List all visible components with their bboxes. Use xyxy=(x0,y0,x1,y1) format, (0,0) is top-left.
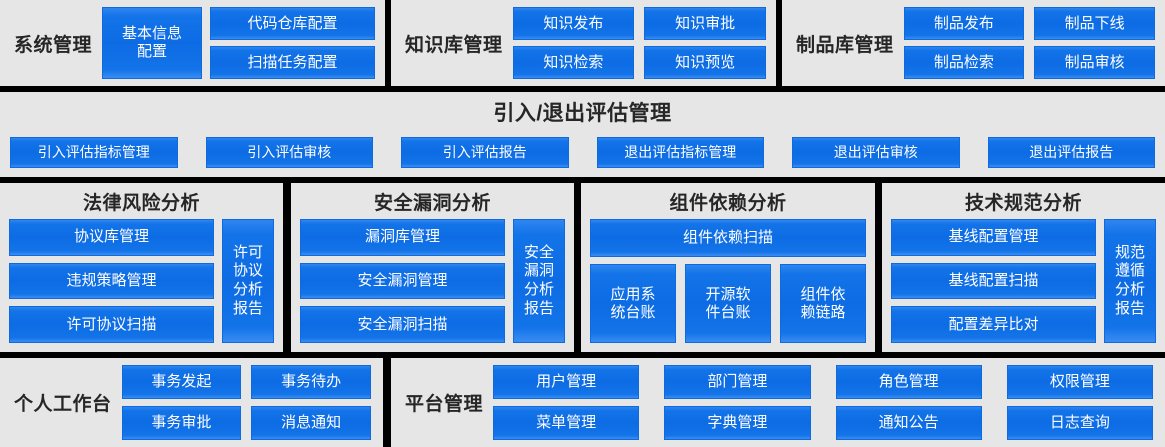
button-exit-eval-report[interactable]: 退出评估报告 xyxy=(988,137,1156,168)
entry-exit-evaluation-buttons: 引入评估指标管理 引入评估审核 引入评估报告 退出评估指标管理 退出评估审核 退… xyxy=(0,137,1165,168)
button-product-audit[interactable]: 制品审核 xyxy=(1034,46,1155,79)
button-component-dependency-chain[interactable]: 组件依 赖链路 xyxy=(780,264,866,343)
panel-title-tech-spec: 技术规范分析 xyxy=(882,183,1165,219)
button-entry-eval-indicator-mgmt[interactable]: 引入评估指标管理 xyxy=(10,137,178,168)
button-basic-info-config[interactable]: 基本信息 配置 xyxy=(102,7,202,79)
panel-knowledge-base-management: 知识库管理 知识发布 知识审批 知识检索 知识预览 xyxy=(391,0,776,86)
button-security-vuln-report[interactable]: 安全 漏洞 分析 报告 xyxy=(513,219,565,343)
button-message-notification[interactable]: 消息通知 xyxy=(251,406,371,440)
button-knowledge-preview[interactable]: 知识预览 xyxy=(644,46,766,79)
button-code-repo-config[interactable]: 代码仓库配置 xyxy=(210,7,375,40)
personal-workbench-buttons: 事务发起 事务待办 事务审批 消息通知 xyxy=(122,365,383,440)
button-spec-compliance-report[interactable]: 规范 遵循 分析 报告 xyxy=(1104,219,1156,343)
panel-title-system-management: 系统管理 xyxy=(0,30,102,57)
button-notice-announcement[interactable]: 通知公告 xyxy=(836,406,982,440)
panel-component-dependency-analysis: 组件依赖分析 组件依赖扫描 应用系 统台账 开源软 件台账 组件依 赖链路 xyxy=(581,183,875,352)
panel-title-platform-management: 平台管理 xyxy=(391,389,493,416)
button-knowledge-approval[interactable]: 知识审批 xyxy=(644,7,766,40)
button-open-source-ledger[interactable]: 开源软 件台账 xyxy=(685,264,771,343)
button-permission-management[interactable]: 权限管理 xyxy=(1007,365,1153,399)
button-license-agreement-scan[interactable]: 许可协议扫描 xyxy=(9,306,214,343)
button-log-query[interactable]: 日志查询 xyxy=(1007,406,1153,440)
panel-system-management: 系统管理 基本信息 配置 代码仓库配置 扫描任务配置 xyxy=(0,0,385,86)
panel-entry-exit-evaluation-management: 引入/退出评估管理 引入评估指标管理 引入评估审核 引入评估报告 退出评估指标管… xyxy=(0,92,1165,177)
system-management-buttons: 基本信息 配置 代码仓库配置 扫描任务配置 xyxy=(102,7,385,79)
button-license-analysis-report[interactable]: 许可 协议 分析 报告 xyxy=(222,219,274,343)
panel-title-personal-workbench: 个人工作台 xyxy=(0,389,122,416)
panel-personal-workbench: 个人工作台 事务发起 事务待办 事务审批 消息通知 xyxy=(0,358,383,447)
panel-tech-spec-analysis: 技术规范分析 基线配置管理 基线配置扫描 配置差异比对 规范 遵循 分析 报告 xyxy=(882,183,1165,352)
button-security-vuln-scan[interactable]: 安全漏洞扫描 xyxy=(300,306,505,343)
button-knowledge-search[interactable]: 知识检索 xyxy=(513,46,635,79)
knowledge-base-buttons: 知识发布 知识审批 知识检索 知识预览 xyxy=(513,7,776,79)
button-violation-policy-mgmt[interactable]: 违规策略管理 xyxy=(9,263,214,300)
button-task-initiate[interactable]: 事务发起 xyxy=(122,365,242,399)
panel-security-vulnerability-analysis: 安全漏洞分析 漏洞库管理 安全漏洞管理 安全漏洞扫描 安全 漏洞 分析 报告 xyxy=(291,183,574,352)
panel-title-knowledge-base: 知识库管理 xyxy=(391,30,513,57)
button-dictionary-management[interactable]: 字典管理 xyxy=(664,406,810,440)
platform-management-buttons: 用户管理 部门管理 角色管理 权限管理 菜单管理 字典管理 通知公告 日志查询 xyxy=(493,365,1165,440)
button-role-management[interactable]: 角色管理 xyxy=(836,365,982,399)
button-baseline-config-mgmt[interactable]: 基线配置管理 xyxy=(891,219,1096,256)
button-knowledge-publish[interactable]: 知识发布 xyxy=(513,7,635,40)
architecture-diagram: 系统管理 基本信息 配置 代码仓库配置 扫描任务配置 知识库管理 知识发布 知识… xyxy=(0,0,1165,447)
button-security-vuln-mgmt[interactable]: 安全漏洞管理 xyxy=(300,263,505,300)
panel-title-legal-risk: 法律风险分析 xyxy=(0,183,283,219)
button-scan-task-config[interactable]: 扫描任务配置 xyxy=(210,46,375,79)
button-task-approval[interactable]: 事务审批 xyxy=(122,406,242,440)
panel-legal-risk-analysis: 法律风险分析 协议库管理 违规策略管理 许可协议扫描 许可 协议 分析 报告 xyxy=(0,183,283,352)
panel-platform-management: 平台管理 用户管理 部门管理 角色管理 权限管理 菜单管理 字典管理 通知公告 … xyxy=(391,358,1165,447)
button-entry-eval-report[interactable]: 引入评估报告 xyxy=(401,137,569,168)
button-entry-eval-audit[interactable]: 引入评估审核 xyxy=(206,137,374,168)
panel-title-product-library: 制品库管理 xyxy=(782,30,904,57)
button-product-search[interactable]: 制品检索 xyxy=(904,46,1025,79)
button-vuln-library-mgmt[interactable]: 漏洞库管理 xyxy=(300,219,505,256)
button-agreement-library-mgmt[interactable]: 协议库管理 xyxy=(9,219,214,256)
button-config-diff-compare[interactable]: 配置差异比对 xyxy=(891,306,1096,343)
button-app-system-ledger[interactable]: 应用系 统台账 xyxy=(590,264,676,343)
panel-title-security-vuln: 安全漏洞分析 xyxy=(291,183,574,219)
product-library-buttons: 制品发布 制品下线 制品检索 制品审核 xyxy=(904,7,1165,79)
button-exit-eval-audit[interactable]: 退出评估审核 xyxy=(792,137,960,168)
button-baseline-config-scan[interactable]: 基线配置扫描 xyxy=(891,263,1096,300)
button-exit-eval-indicator-mgmt[interactable]: 退出评估指标管理 xyxy=(597,137,765,168)
panel-title-entry-exit-evaluation: 引入/退出评估管理 xyxy=(0,92,1165,131)
button-product-publish[interactable]: 制品发布 xyxy=(904,7,1025,40)
button-task-todo[interactable]: 事务待办 xyxy=(251,365,371,399)
panel-product-library-management: 制品库管理 制品发布 制品下线 制品检索 制品审核 xyxy=(782,0,1165,86)
button-user-management[interactable]: 用户管理 xyxy=(493,365,639,399)
button-component-dependency-scan[interactable]: 组件依赖扫描 xyxy=(590,219,866,257)
button-department-management[interactable]: 部门管理 xyxy=(664,365,810,399)
button-product-offline[interactable]: 制品下线 xyxy=(1034,7,1155,40)
panel-title-component-dependency: 组件依赖分析 xyxy=(581,183,875,219)
button-menu-management[interactable]: 菜单管理 xyxy=(493,406,639,440)
